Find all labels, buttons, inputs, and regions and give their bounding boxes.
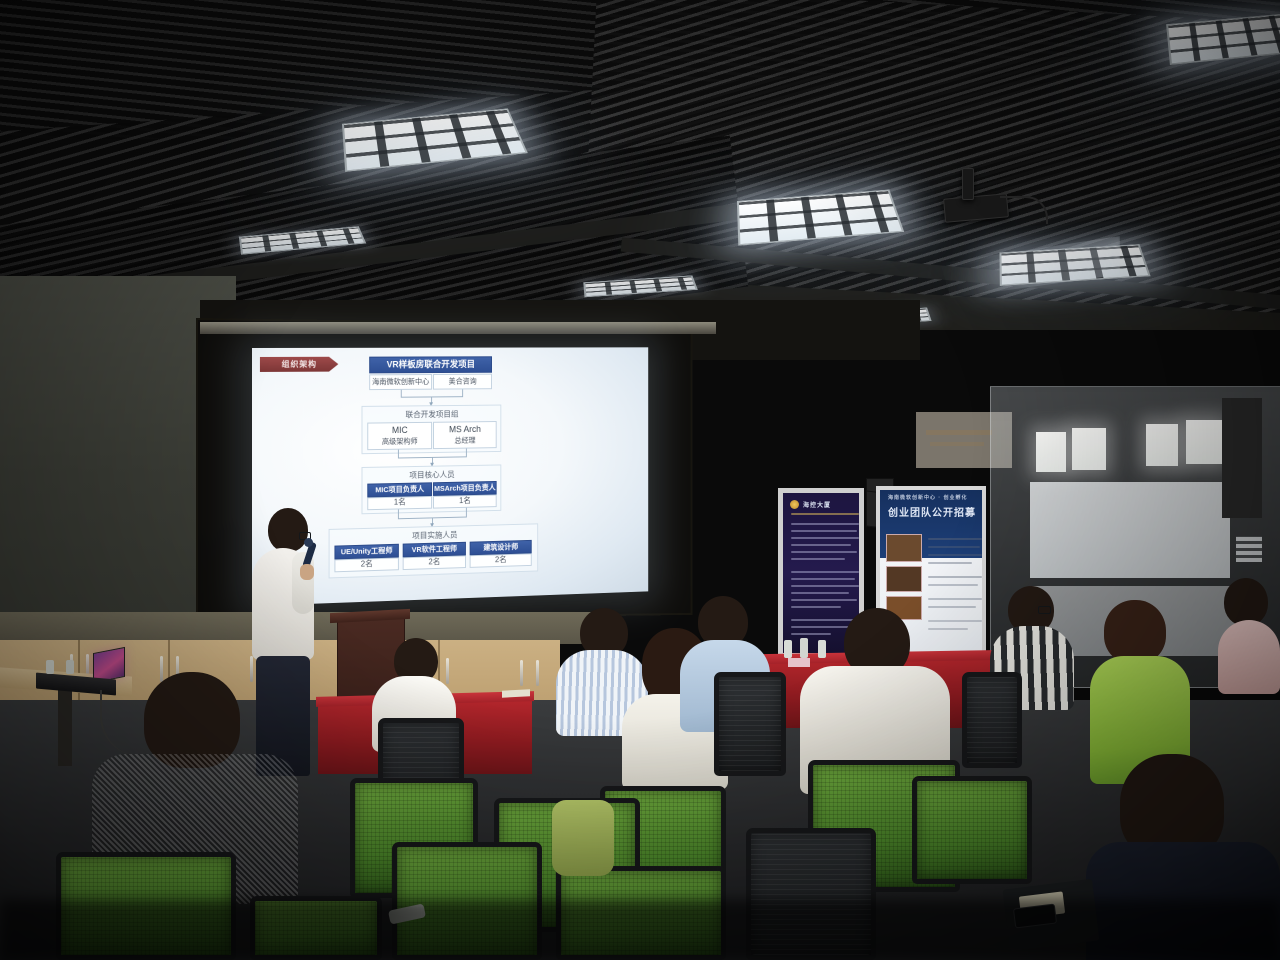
person-head <box>1224 578 1268 626</box>
poster-left-title: 海控大厦 <box>803 500 831 509</box>
chair[interactable] <box>714 672 786 776</box>
org-group-member: MS Arch 总经理 <box>433 421 497 449</box>
water-bottle <box>66 660 74 674</box>
chair[interactable] <box>556 866 726 960</box>
audience-person <box>1086 754 1280 960</box>
org-member-role: 总经理 <box>454 437 475 445</box>
exterior-window <box>1072 428 1106 470</box>
org-impl-count: 2名 <box>470 553 532 568</box>
wall-sign-text-line <box>926 430 992 435</box>
microphone-head <box>304 538 313 547</box>
org-group-label: 联合开发项目组 <box>362 408 502 420</box>
person-torso <box>1086 842 1280 960</box>
poster-right-title: 创业团队公开招募 <box>888 504 976 519</box>
backpack <box>552 800 614 876</box>
exterior-window <box>1036 432 1066 472</box>
poster-logo-icon <box>790 500 799 509</box>
paper-sheet <box>502 689 530 697</box>
org-core-member-title: MIC项目负责人 <box>367 482 432 497</box>
water-bottle <box>784 640 792 658</box>
projector-mount <box>962 168 974 200</box>
audience-person <box>1218 578 1280 688</box>
org-partner-node: 美合咨询 <box>433 374 492 390</box>
wall-vent <box>1236 536 1262 562</box>
wall-sign-text-line <box>930 442 984 446</box>
chair[interactable] <box>56 852 236 960</box>
cabinet-handle[interactable] <box>536 660 539 686</box>
poster-photo <box>886 566 922 592</box>
whiteboard <box>1030 482 1230 578</box>
org-core-member-title: MSArch项目负责人 <box>433 481 497 496</box>
chair[interactable] <box>250 896 382 960</box>
presenter-hand <box>300 564 314 580</box>
org-group-member: MIC 高级架构师 <box>367 422 432 450</box>
presentation-room-photo: 海控大厦 海南微软创新中心 · 创业孵化 创业团队公开招募 <box>0 0 1280 960</box>
poster-photo <box>886 534 922 562</box>
water-bottle <box>46 660 54 674</box>
glasses-icon <box>1038 606 1051 614</box>
org-impl-count: 2名 <box>334 557 398 572</box>
org-partner-node: 海南微软创新中心 <box>369 374 432 390</box>
org-member-role: 高级架构师 <box>382 437 418 446</box>
org-member-org: MIC <box>392 426 408 436</box>
person-head <box>1104 600 1166 664</box>
slide-section-banner: 组织架构 <box>260 357 338 372</box>
org-impl-count: 2名 <box>403 555 466 570</box>
exterior-window <box>1186 420 1222 464</box>
screen-roller-housing <box>200 322 716 334</box>
person-torso <box>1218 620 1280 694</box>
chair[interactable] <box>912 776 1032 884</box>
org-root-node: VR样板房联合开发项目 <box>369 356 492 373</box>
chair[interactable] <box>962 672 1022 768</box>
chair[interactable] <box>392 842 542 960</box>
org-core-member-count: 1名 <box>367 496 432 510</box>
org-core-member-count: 1名 <box>433 494 497 508</box>
org-member-org: MS Arch <box>449 425 481 435</box>
desk-leg <box>58 690 72 766</box>
chair[interactable] <box>746 828 876 960</box>
exterior-window <box>1146 424 1178 466</box>
dark-wall-panel <box>1222 398 1262 518</box>
presenter-head <box>268 508 308 552</box>
cabinet-handle[interactable] <box>520 660 523 686</box>
audience-person <box>1090 600 1190 780</box>
